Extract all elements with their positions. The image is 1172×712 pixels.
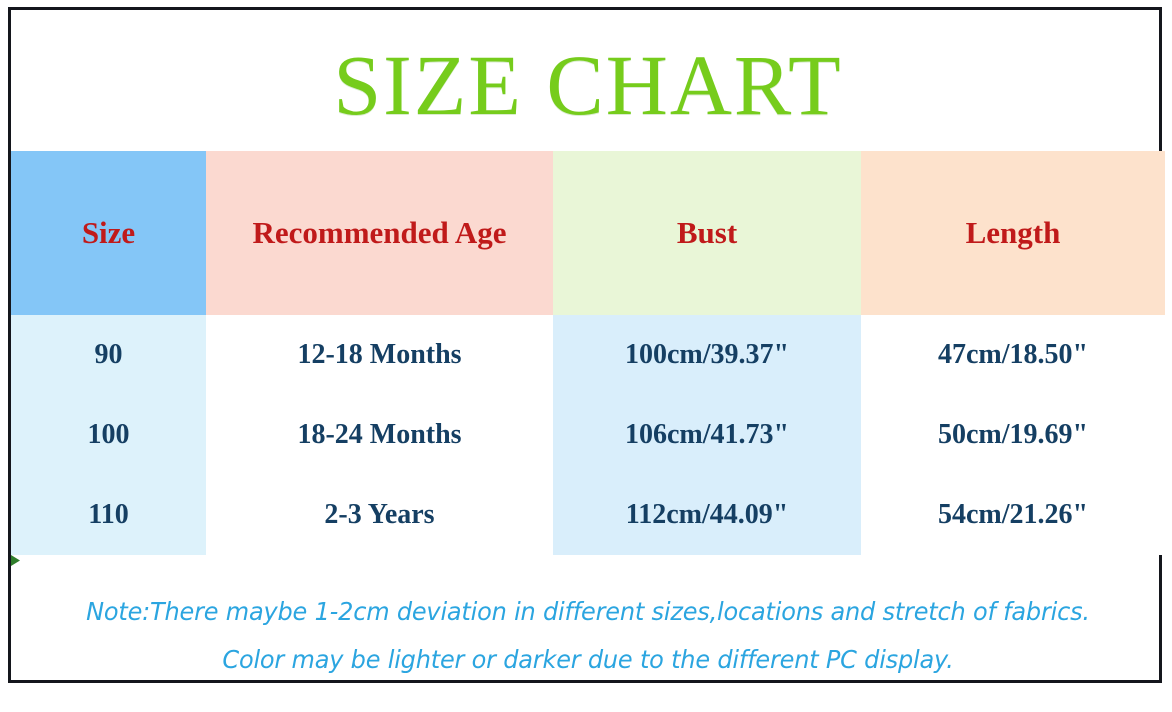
cell-length: 50cm/19.69" [861,395,1165,475]
cell-size: 90 [11,315,206,395]
cell-bust: 106cm/41.73" [553,395,861,475]
size-chart-page: SIZE CHART Size Recommended Age Bust Len… [0,0,1172,712]
header-cell-size: Size [11,151,206,315]
cell-length: 54cm/21.26" [861,475,1165,555]
cell-age: 18-24 Months [206,395,553,475]
cell-age: 12-18 Months [206,315,553,395]
cell-age: 2-3 Years [206,475,553,555]
notes-block: Note:There maybe 1-2cm deviation in diff… [11,588,1165,684]
table-header-row: Size Recommended Age Bust Length [11,151,1165,315]
cell-size: 100 [11,395,206,475]
note-line-color: Color may be lighter or darker due to th… [34,636,1142,684]
cell-length: 47cm/18.50" [861,315,1165,395]
cell-bust: 100cm/39.37" [553,315,861,395]
green-speck-artifact [11,555,20,566]
table-row: 90 12-18 Months 100cm/39.37" 47cm/18.50" [11,315,1165,395]
header-cell-bust: Bust [553,151,861,315]
table-row: 110 2-3 Years 112cm/44.09" 54cm/21.26" [11,475,1165,555]
header-cell-length: Length [861,151,1165,315]
size-chart-table: Size Recommended Age Bust Length 90 12-1… [11,151,1165,555]
table-row: 100 18-24 Months 106cm/41.73" 50cm/19.69… [11,395,1165,475]
cell-size: 110 [11,475,206,555]
chart-frame: SIZE CHART Size Recommended Age Bust Len… [8,7,1162,683]
header-cell-recommended-age: Recommended Age [206,151,553,315]
cell-bust: 112cm/44.09" [553,475,861,555]
note-line-deviation: Note:There maybe 1-2cm deviation in diff… [34,588,1142,636]
page-title: SIZE CHART [11,37,1165,133]
